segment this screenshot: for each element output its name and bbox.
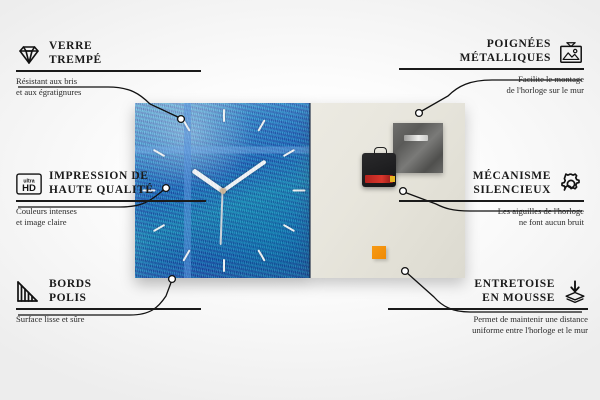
clock-tick [257, 249, 265, 261]
callout-header: BORDS POLIS [16, 278, 201, 305]
callout-verre-trempe[interactable]: VERRE TREMPÉ Résistant aux bris et aux é… [16, 40, 201, 98]
clock-center-cap [220, 188, 226, 194]
callout-bords-polis[interactable]: BORDS POLIS Surface lisse et sûre [16, 278, 201, 325]
callout-title: MÉCANISME SILENCIEUX [473, 170, 551, 197]
callout-impression-haute-qualite[interactable]: ultra HD IMPRESSION DE HAUTE QUALITÉ Cou… [16, 170, 206, 228]
clock-tick [223, 109, 225, 122]
hanging-frame-icon [558, 39, 584, 65]
callout-description: Résistant aux bris et aux égratignures [16, 76, 201, 99]
callout-title: BORDS POLIS [49, 278, 92, 305]
callout-description: Permet de maintenir une distance uniform… [388, 314, 588, 337]
callout-header: POIGNÉES MÉTALLIQUES [399, 38, 584, 65]
callout-entretoise-en-mousse[interactable]: ENTRETOISE EN MOUSSE Permet de maintenir… [388, 278, 588, 336]
callout-header: ENTRETOISE EN MOUSSE [388, 278, 588, 305]
callout-description: Facilite le montage de l'horloge sur le … [399, 74, 584, 97]
panel-seam [309, 103, 311, 278]
mechanism-hook [374, 147, 387, 155]
diamond-icon [16, 41, 42, 67]
ultra-hd-icon: ultra HD [16, 171, 42, 197]
clock-tick [292, 190, 305, 192]
callout-rule [399, 68, 584, 69]
clock-tick [152, 149, 164, 157]
foam-spacer-icon [562, 279, 588, 305]
svg-text:HD: HD [22, 182, 36, 193]
callout-header: MÉCANISME SILENCIEUX [399, 170, 584, 197]
callout-rule [16, 70, 201, 71]
battery [365, 175, 393, 183]
callout-title: VERRE TREMPÉ [49, 40, 102, 67]
callout-mecanisme-silencieux[interactable]: MÉCANISME SILENCIEUX Les aiguilles de l'… [399, 170, 584, 228]
metal-handle-plate [393, 123, 443, 173]
callout-rule [399, 200, 584, 201]
callout-poignees-metalliques[interactable]: POIGNÉES MÉTALLIQUES Facilite le montage… [399, 38, 584, 96]
callout-title: POIGNÉES MÉTALLIQUES [460, 38, 551, 65]
callout-description: Couleurs intenses et image claire [16, 206, 206, 229]
callout-rule [388, 308, 588, 309]
gear-icon [558, 171, 584, 197]
clock-tick [282, 224, 294, 232]
handle-slot [404, 135, 428, 141]
callout-description: Les aiguilles de l'horloge ne font aucun… [399, 206, 584, 229]
clock-minute-hand [221, 159, 266, 192]
callout-header: ultra HD IMPRESSION DE HAUTE QUALITÉ [16, 170, 206, 197]
clock-tick [257, 119, 265, 131]
callout-rule [16, 308, 201, 309]
clock-tick [223, 259, 225, 272]
clock-tick [182, 119, 190, 131]
polished-edges-icon [16, 279, 42, 305]
callout-title: ENTRETOISE EN MOUSSE [474, 278, 555, 305]
callout-description: Surface lisse et sûre [16, 314, 201, 325]
callout-title: IMPRESSION DE HAUTE QUALITÉ [49, 170, 154, 197]
foam-spacer [372, 246, 386, 259]
clock-tick [282, 149, 294, 157]
callout-rule [16, 200, 206, 201]
callout-header: VERRE TREMPÉ [16, 40, 201, 67]
clock-mechanism [362, 153, 396, 187]
infographic-canvas: VERRE TREMPÉ Résistant aux bris et aux é… [0, 0, 600, 400]
clock-second-hand [220, 190, 223, 244]
battery-plus-terminal [390, 176, 395, 182]
clock-tick [182, 249, 190, 261]
